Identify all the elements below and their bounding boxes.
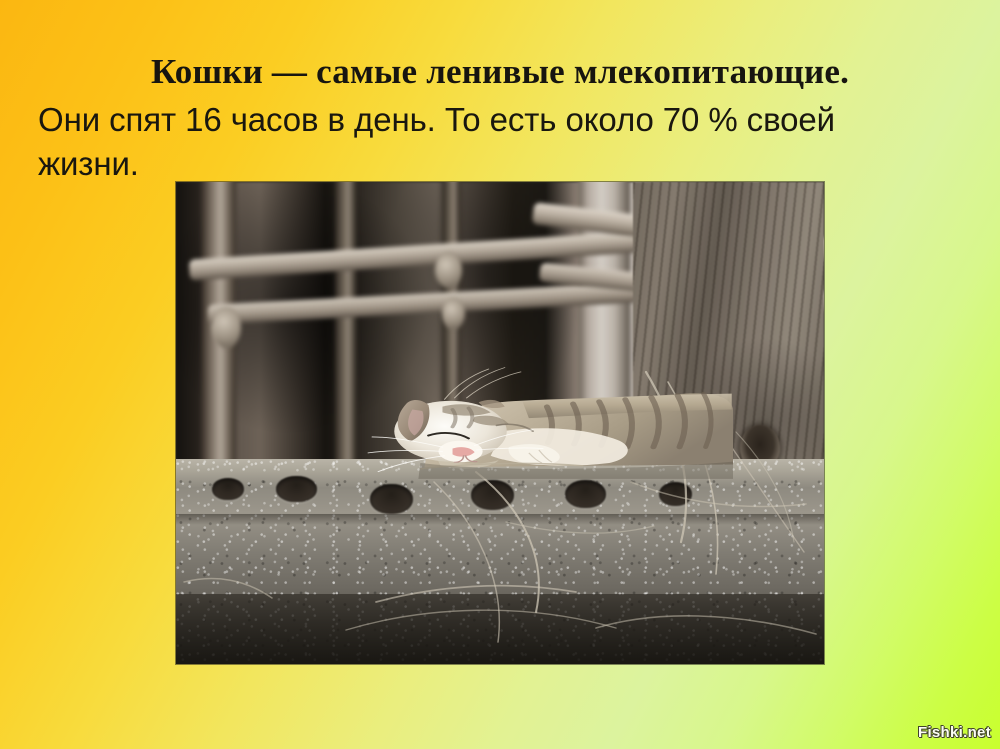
- page-title: Кошки — самые ленивые млекопитающие.: [0, 0, 1000, 94]
- sleeping-kitten: [332, 356, 734, 501]
- body-text: Они спят 16 часов в день. То есть около …: [0, 94, 938, 186]
- photo-frame: [176, 182, 824, 664]
- photo-image: [176, 182, 824, 664]
- text-block: Кошки — самые ленивые млекопитающие. Они…: [0, 0, 1000, 186]
- slide-canvas: Кошки — самые ленивые млекопитающие. Они…: [0, 0, 1000, 749]
- watermark: Fishki.net: [918, 724, 991, 741]
